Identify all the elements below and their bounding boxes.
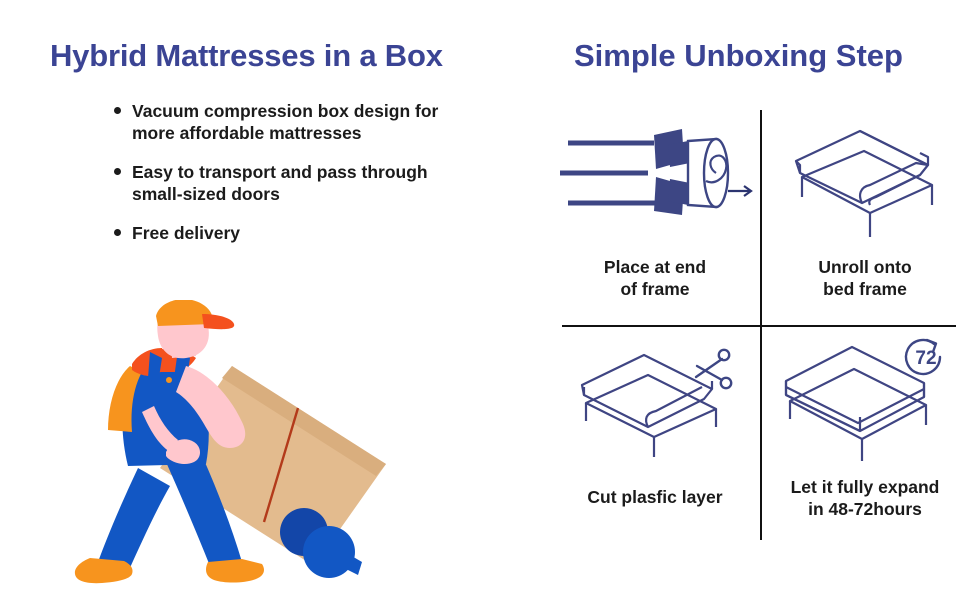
list-item: Easy to transport and pass through small…	[112, 161, 472, 206]
bullet-text: Vacuum compression box design for more a…	[132, 101, 438, 143]
grid-divider-horizontal	[562, 325, 956, 327]
right-section-title: Simple Unboxing Step	[574, 38, 903, 74]
step-4-label-line1: Let it fully expand	[766, 477, 964, 499]
step-4-label-line2: in 48-72hours	[766, 499, 964, 521]
worker-back-shoe	[75, 558, 133, 583]
step-1-label-line1: Place at end	[556, 257, 754, 279]
worker-front-shoe	[206, 559, 264, 583]
feature-bullet-list: Vacuum compression box design for more a…	[112, 100, 472, 244]
unboxing-step-2: Unroll onto bed frame	[766, 115, 964, 320]
worker-back-leg	[98, 468, 170, 572]
step-1-label-line2: of frame	[556, 279, 754, 301]
unboxing-step-3: Cut plasfic layer	[556, 335, 754, 540]
step-3-label: Cut plasfic layer	[556, 487, 754, 509]
step-2-label-line2: bed frame	[766, 279, 964, 301]
step-3-label-line1: Cut plasfic layer	[556, 487, 754, 509]
unboxing-step-4: 72 Let it fully expand in 48-72hours	[766, 335, 964, 540]
bullet-text: Easy to transport and pass through small…	[132, 162, 428, 204]
step-2-label: Unroll onto bed frame	[766, 257, 964, 301]
unboxing-step-1: Place at end of frame	[556, 115, 754, 320]
boxed-rolled-mattress-on-frame-icon	[556, 115, 754, 250]
right-column: Simple Unboxing Step	[540, 0, 970, 600]
expand-timer-icon: 72	[766, 335, 964, 470]
step-1-label: Place at end of frame	[556, 257, 754, 301]
left-column: Hybrid Mattresses in a Box Vacuum compre…	[0, 0, 540, 600]
list-item: Vacuum compression box design for more a…	[112, 100, 472, 145]
infographic-page: Hybrid Mattresses in a Box Vacuum compre…	[0, 0, 970, 600]
list-item: Free delivery	[112, 222, 472, 244]
bullet-dot-icon	[114, 168, 121, 175]
overall-button-icon	[166, 377, 172, 383]
left-section-title: Hybrid Mattresses in a Box	[50, 38, 520, 74]
rotation-badge-value: 72	[915, 348, 936, 369]
worker-illustration	[46, 300, 446, 590]
step-4-label: Let it fully expand in 48-72hours	[766, 477, 964, 521]
bullet-text: Free delivery	[132, 223, 240, 243]
worker-cap-brim	[202, 314, 234, 329]
rotation-badge-icon: 72	[906, 340, 940, 374]
bullet-dot-icon	[114, 229, 121, 236]
mattress-unrolling-on-frame-icon	[766, 115, 964, 250]
step-2-label-line1: Unroll onto	[766, 257, 964, 279]
bullet-dot-icon	[114, 107, 121, 114]
scissors-cutting-plastic-icon	[556, 335, 754, 470]
